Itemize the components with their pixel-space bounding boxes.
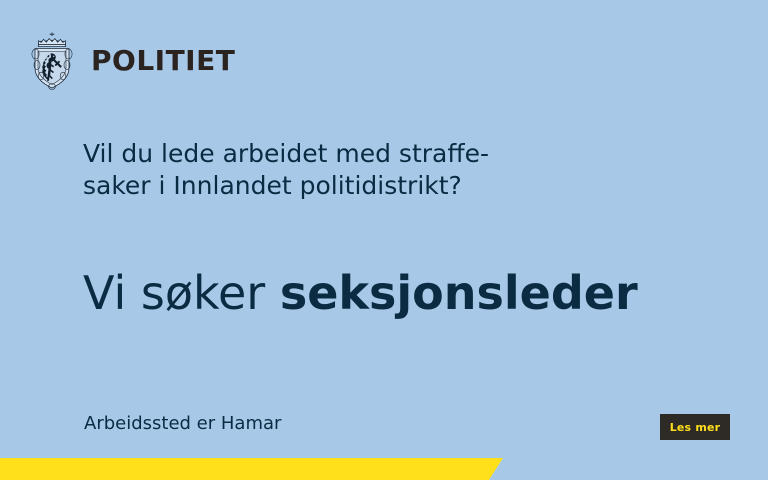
headline-lead: Vi søker [83,266,280,320]
ad-headline: Vi søker seksjonsleder [83,266,638,320]
politiet-logo: POLITIET [26,31,235,91]
workplace-location-text: Arbeidssted er Hamar [84,413,281,435]
yellow-accent-stripe [0,458,503,480]
norwegian-coat-of-arms-icon [26,31,78,91]
headline-emphasis: seksjonsleder [280,266,638,320]
recruitment-ad-banner: POLITIET Vil du lede arbeidet med straff… [0,0,768,480]
kicker-line-1: Vil du lede arbeidet med straffe- [83,138,553,170]
kicker-line-2: saker i Innlandet politidistrikt? [83,170,553,202]
ad-kicker-text: Vil du lede arbeidet med straffe- saker … [83,138,553,202]
politiet-wordmark: POLITIET [91,47,235,75]
les-mer-button[interactable]: Les mer [660,414,730,440]
